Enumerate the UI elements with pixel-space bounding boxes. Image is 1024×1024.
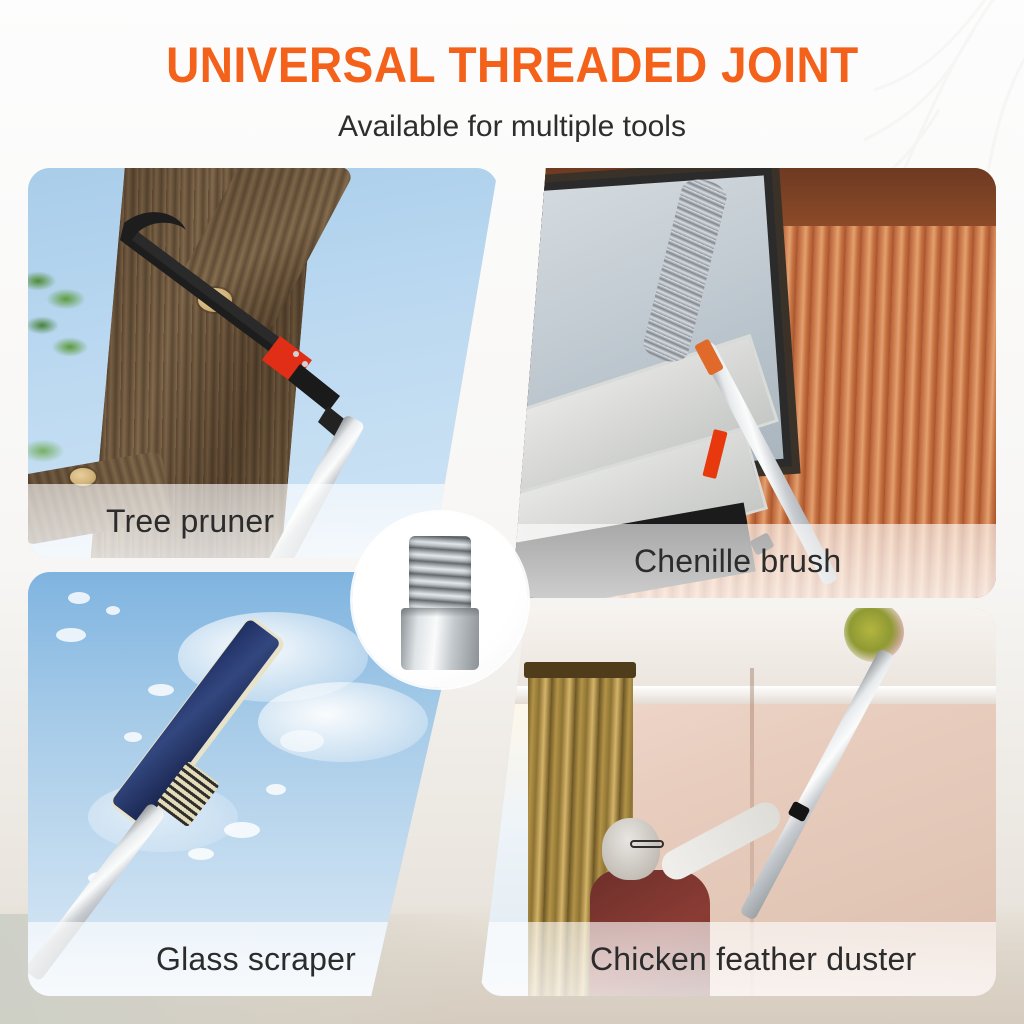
screw-thread-icon (409, 536, 471, 612)
page-title: UNIVERSAL THREADED JOINT (166, 40, 859, 90)
panel-chenille-brush[interactable]: Chenille brush (512, 168, 996, 598)
caption-label: Chicken feather duster (590, 941, 916, 978)
cloud-2 (258, 682, 428, 762)
caption-chenille-brush: Chenille brush (512, 524, 996, 598)
threaded-joint-badge[interactable] (352, 512, 528, 688)
page-subtitle: Available for multiple tools (338, 110, 686, 144)
curtain-rod (524, 662, 636, 678)
person-head (602, 818, 660, 880)
poster-header: UNIVERSAL THREADED JOINT Available for m… (0, 0, 1024, 160)
caption-label: Tree pruner (106, 503, 274, 540)
eyeglasses (630, 840, 664, 848)
product-feature-poster: UNIVERSAL THREADED JOINT Available for m… (0, 0, 1024, 1024)
screw-collar (401, 608, 479, 670)
panel-tree-pruner[interactable]: Tree pruner (28, 168, 498, 558)
caption-chicken-feather-duster: Chicken feather duster (480, 922, 996, 996)
caption-label: Chenille brush (634, 543, 841, 580)
caption-label: Glass scraper (156, 941, 356, 978)
panel-chicken-feather-duster[interactable]: Chicken feather duster (480, 608, 996, 996)
caption-glass-scraper: Glass scraper (28, 922, 468, 996)
